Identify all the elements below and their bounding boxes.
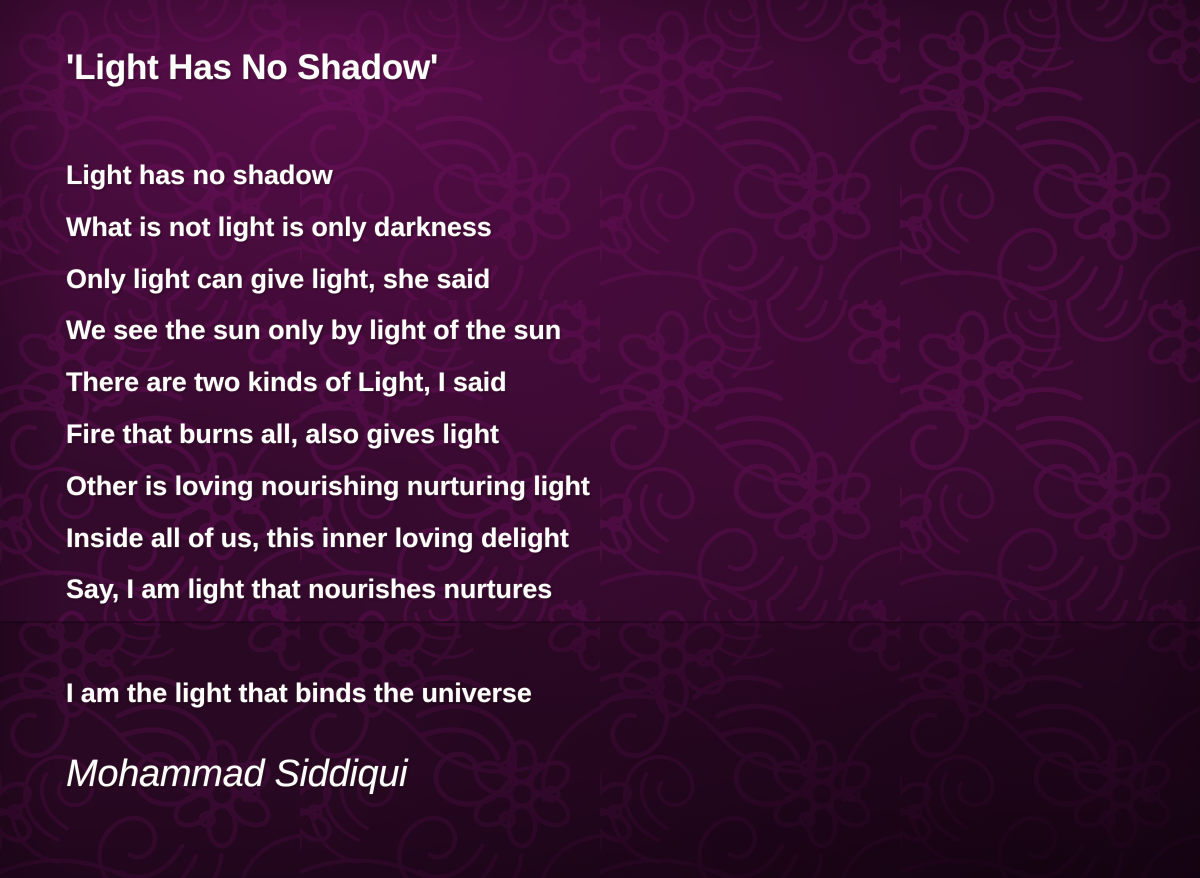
poem-line: Say, I am light that nourishes nurtures xyxy=(66,574,552,605)
poem-line: What is not light is only darkness xyxy=(66,212,492,243)
poem-line: Fire that burns all, also gives light xyxy=(66,419,499,450)
poem-line: Inside all of us, this inner loving deli… xyxy=(66,523,569,554)
poem-content: 'Light Has No Shadow' Light has no shado… xyxy=(0,0,1200,878)
poem-line: Only light can give light, she said xyxy=(66,264,490,295)
poem-author-signature: Mohammad Siddiqui xyxy=(66,753,407,796)
poem-line: There are two kinds of Light, I said xyxy=(66,367,506,398)
poem-image-card: 'Light Has No Shadow' Light has no shado… xyxy=(0,0,1200,878)
poem-line: Light has no shadow xyxy=(66,160,333,191)
poem-line: I am the light that binds the universe xyxy=(66,678,532,709)
poem-line: We see the sun only by light of the sun xyxy=(66,315,561,346)
poem-line: Other is loving nourishing nurturing lig… xyxy=(66,471,590,502)
poem-title: 'Light Has No Shadow' xyxy=(66,48,438,88)
